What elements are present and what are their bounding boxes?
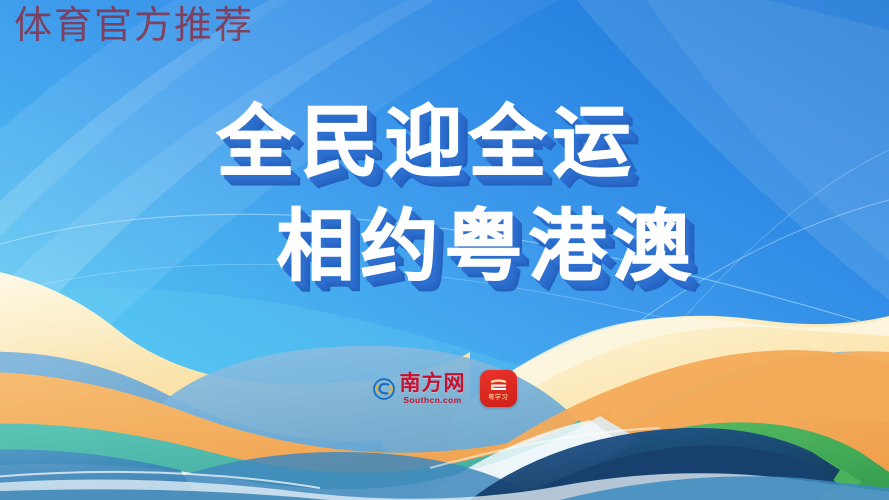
book-app-icon	[488, 377, 509, 393]
watermark-text: 体育官方推荐	[14, 4, 254, 48]
swirl-s-icon	[373, 378, 395, 400]
yuexuexi-label: 粤学习	[488, 394, 508, 401]
promo-poster: 体育官方推荐 全民迎全运 相约粤港澳 南方网 Southcn.com	[0, 0, 889, 500]
logo-row: 南方网 Southcn.com 粤学习	[0, 370, 889, 407]
wave-layer	[0, 0, 889, 500]
southcn-text-block: 南方网 Southcn.com	[400, 373, 466, 405]
southcn-name-cn: 南方网	[400, 373, 466, 394]
southcn-logo[interactable]: 南方网 Southcn.com	[373, 373, 466, 405]
yuexuexi-app-icon[interactable]: 粤学习	[480, 370, 517, 407]
southcn-name-en: Southcn.com	[403, 396, 461, 405]
